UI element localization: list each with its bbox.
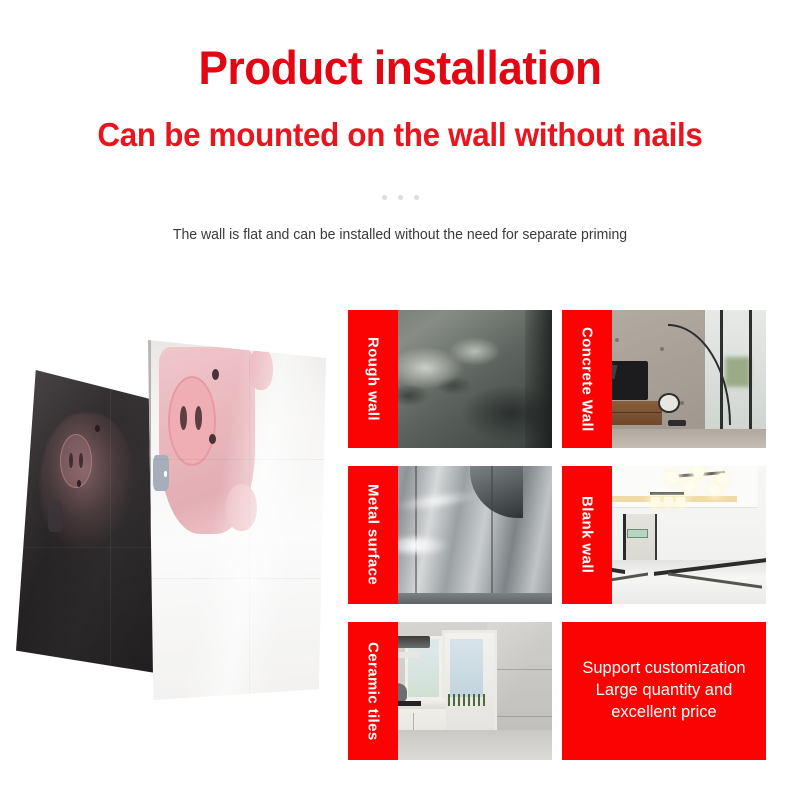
- white-mirror-panel: [148, 340, 326, 700]
- card-label-strip: Ceramic tiles: [348, 622, 398, 760]
- metal-highlight: [393, 490, 479, 511]
- separator-dot: [382, 195, 387, 200]
- ceiling-bulb-icon: [668, 472, 679, 483]
- promo-line-1: Support customization: [582, 658, 745, 680]
- pendant-bulb-icon: [676, 497, 685, 507]
- surface-type-grid: Rough wall Concrete Wall: [348, 310, 766, 760]
- card-label-strip: Blank wall: [562, 466, 612, 604]
- card-label-text: Ceramic tiles: [365, 642, 382, 741]
- pendant-bulb-icon: [664, 497, 673, 507]
- surface-card-blank-wall[interactable]: Blank wall: [562, 466, 766, 604]
- metal-seam: [415, 466, 417, 604]
- metal-seam: [491, 466, 493, 604]
- door-glass-element: [450, 639, 483, 697]
- card-label-text: Metal surface: [365, 484, 382, 585]
- card-label-strip: Concrete Wall: [562, 310, 612, 448]
- foliage-element: [725, 357, 749, 387]
- pendant-bulb-icon: [651, 497, 660, 507]
- card-label-text: Concrete Wall: [579, 327, 596, 432]
- concrete-tie-hole: [615, 338, 619, 342]
- card-label-text: Blank wall: [579, 496, 596, 573]
- promo-line-2: Large quantity and: [582, 680, 745, 702]
- card-label-strip: Rough wall: [348, 310, 398, 448]
- separator-dot: [414, 195, 419, 200]
- product-photo: [8, 330, 338, 730]
- promo-line-3: excellent price: [582, 702, 745, 724]
- surface-card-concrete-wall[interactable]: Concrete Wall: [562, 310, 766, 448]
- surface-card-metal-surface[interactable]: Metal surface: [348, 466, 552, 604]
- panel-glare: [16, 370, 168, 675]
- description-text: The wall is flat and can be installed wi…: [12, 228, 788, 243]
- surface-card-ceramic-tiles[interactable]: Ceramic tiles: [348, 622, 552, 760]
- pendant-light-icon: [650, 489, 685, 507]
- ceiling-bulb-icon: [693, 467, 704, 478]
- page-subtitle: Can be mounted on the wall without nails: [20, 118, 780, 151]
- ceiling-bulb-icon: [709, 484, 720, 495]
- window-mullion: [749, 310, 752, 448]
- page-title: Product installation: [24, 44, 776, 91]
- promo-card[interactable]: Support customization Large quantity and…: [562, 622, 766, 760]
- card-label-text: Rough wall: [365, 337, 382, 421]
- card-label-strip: Metal surface: [348, 466, 398, 604]
- wall-sign-element: [627, 529, 647, 538]
- black-mirror-panel: [16, 370, 168, 675]
- concrete-tie-hole: [660, 347, 664, 351]
- ceiling-bulb-icon: [717, 473, 728, 484]
- surface-card-rough-wall[interactable]: Rough wall: [348, 310, 552, 448]
- metal-curve: [470, 466, 523, 518]
- dot-separator: [0, 195, 800, 200]
- lamp-base: [668, 420, 686, 426]
- separator-dot: [398, 195, 403, 200]
- balcony-rail-element: [448, 694, 487, 706]
- panel-glare: [148, 340, 326, 700]
- promo-text: Support customization Large quantity and…: [574, 658, 753, 724]
- header-section: Product installation Can be mounted on t…: [0, 0, 800, 270]
